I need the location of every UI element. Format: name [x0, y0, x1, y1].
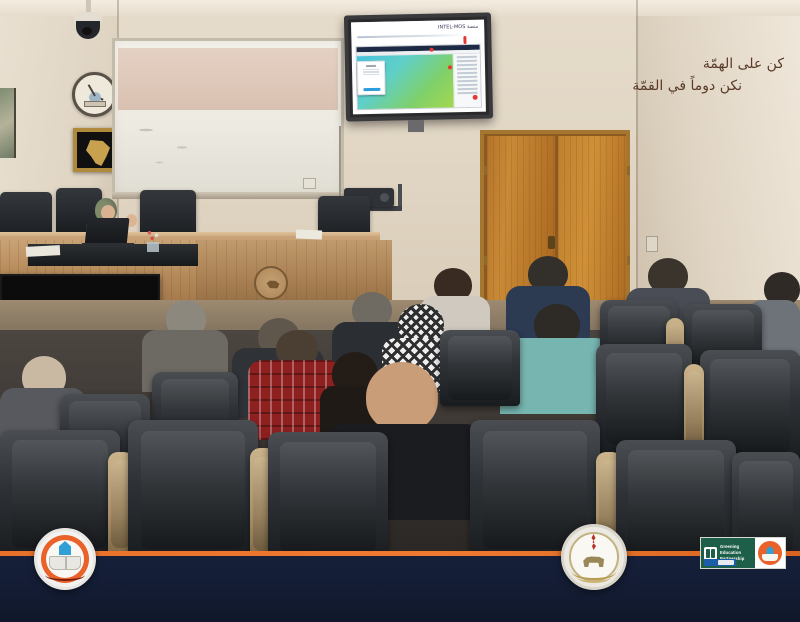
- laptop: [85, 218, 130, 246]
- gep-mark-icon: [704, 547, 717, 560]
- clock-plate: [84, 101, 106, 107]
- college-emblem-on-podium: [254, 266, 288, 300]
- laser-pointer-dot: [448, 65, 452, 69]
- greening-education-partnership-badge: Greening Education Partnership: [700, 537, 786, 569]
- college-logo: [561, 524, 627, 590]
- auditorium-seat: [440, 330, 520, 406]
- projector-arm: [398, 184, 402, 208]
- browser-window-on-slide: [356, 44, 482, 111]
- tv-screen: منصة INTEL-MOS: [351, 20, 486, 115]
- wall-outlet: [303, 178, 316, 189]
- vase: [147, 242, 159, 252]
- door-hinge: [484, 166, 487, 175]
- event-photograph: كن على الهمّة نكن دوماً في القمّة منصة I…: [0, 0, 800, 556]
- open-book-icon: [49, 556, 81, 570]
- badge-seal-panel: [755, 538, 785, 568]
- wall-outlet: [646, 236, 658, 252]
- badge-green-panel: Greening Education Partnership: [701, 538, 755, 568]
- unesco-logo: [704, 559, 736, 566]
- badge-title-line-2: Education: [720, 550, 744, 556]
- left-wall-picture: [0, 88, 16, 158]
- door-hinge: [627, 256, 630, 265]
- slide-title: منصة INTEL-MOS: [438, 24, 478, 31]
- tv-wall-bracket: [408, 120, 424, 132]
- poster-root: كن على الهمّة نكن دوماً في القمّة منصة I…: [0, 0, 800, 622]
- papers-on-stage: [296, 230, 322, 240]
- auditorium-seat: [596, 344, 692, 454]
- university-logo: [34, 528, 96, 590]
- auditorium-seat-foreground: [268, 432, 388, 556]
- door-grain: [558, 136, 626, 306]
- laptop-base: [82, 243, 134, 247]
- logo-arc-inner: [577, 571, 611, 583]
- footer-bar: www.uomosul.edu.iq/veterinarymedicine جا…: [0, 556, 800, 622]
- wall-mounted-tv: منصة INTEL-MOS: [344, 12, 493, 121]
- auditorium-seat-foreground: [128, 420, 258, 556]
- attendee-head-foreground: [366, 362, 438, 432]
- door-hinge: [627, 166, 630, 175]
- slide-subtitle-rule: [357, 34, 466, 38]
- university-seal-icon: [758, 541, 782, 565]
- wall-seam-right: [636, 0, 638, 310]
- whiteboard-markings: [128, 120, 218, 170]
- papers-on-desk: [26, 245, 60, 257]
- slide-accent-mark: [463, 36, 466, 44]
- iraq-map-shape: [86, 140, 110, 166]
- door-handle: [548, 236, 555, 249]
- security-camera-lens: [82, 27, 92, 35]
- web-card: [357, 60, 386, 95]
- door-hinge: [484, 256, 487, 265]
- logo-arabic-arc: [45, 569, 85, 581]
